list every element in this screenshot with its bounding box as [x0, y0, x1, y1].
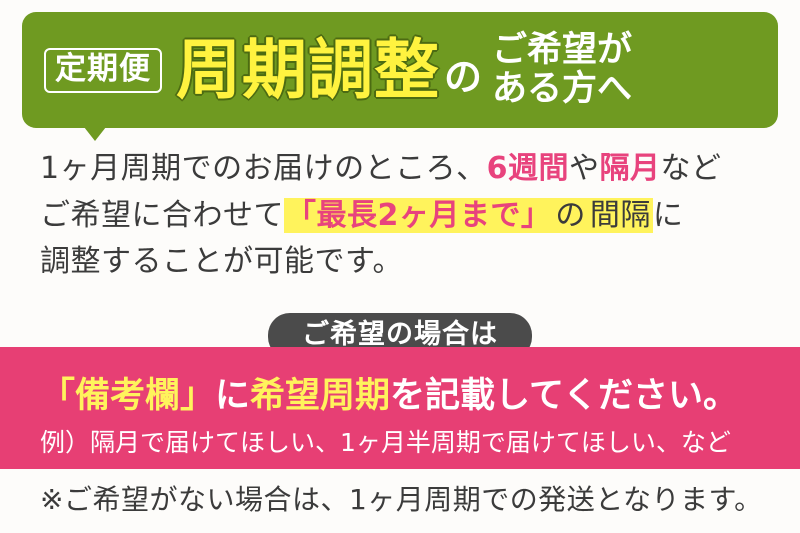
footer-note: ※ご希望がない場合は、1ヶ月周期での発送となります。	[40, 478, 763, 518]
banner-headline: 周期調整	[176, 38, 440, 103]
body-line-1-emphasis-6weeks: 6週間	[487, 151, 569, 186]
banner-subheadline: ご希望が ある方へ	[492, 31, 632, 109]
banner-subheadline-line-1: ご希望が	[492, 31, 632, 70]
body-line-1-part-e: など	[660, 151, 721, 186]
pink-band-part-d: を記載してください。	[390, 376, 738, 416]
banner-headline-particle: の	[444, 58, 482, 128]
banner-subheadline-line-2: ある方へ	[492, 70, 632, 109]
body-line-1-emphasis-bimonthly: 隔月	[599, 151, 660, 186]
pink-band-part-b: に	[215, 376, 250, 416]
body-paragraph: 1ヶ月周期でのお届けのところ、6週間や隔月など ご希望に合わせて「最長2ヶ月まで…	[40, 146, 770, 286]
pink-band: 「備考欄」に希望周期を記載してください。 例）隔月で届けてほしい、1ヶ月半周期で…	[0, 347, 800, 469]
banner: 定期便 周期調整 の ご希望が ある方へ	[22, 12, 778, 128]
body-line-2-part-e: に	[653, 198, 684, 233]
body-line-1: 1ヶ月周期でのお届けのところ、6週間や隔月など	[40, 146, 770, 193]
subscription-tag: 定期便	[44, 48, 162, 93]
pink-band-desired-cycle: 希望周期	[250, 376, 390, 416]
banner-pointer-icon	[84, 127, 106, 141]
body-line-1-part-c: や	[569, 151, 600, 186]
banner-inner: 定期便 周期調整 の ご希望が ある方へ	[22, 12, 778, 128]
pink-band-headline: 「備考欄」に希望周期を記載してください。	[40, 367, 738, 418]
body-line-1-part-a: 1ヶ月周期でのお届けのところ、	[40, 151, 487, 186]
body-line-2-highlight-interval: 間隔	[588, 198, 653, 233]
body-line-3: 調整することが可能です。	[40, 239, 770, 286]
body-line-2: ご希望に合わせて「最長2ヶ月まで」の間隔に	[40, 193, 770, 240]
body-line-2-part-c: の	[553, 198, 588, 233]
pink-band-remarks-field: 「備考欄」	[40, 376, 215, 416]
promo-page: 定期便 周期調整 の ご希望が ある方へ 1ヶ月周期でのお届けのところ、6週間や…	[0, 0, 800, 533]
pink-band-example: 例）隔月で届けてほしい、1ヶ月半周期で届けてほしい、など	[40, 423, 731, 459]
body-line-2-part-a: ご希望に合わせて	[40, 198, 284, 233]
body-line-2-highlight-max2months: 「最長2ヶ月まで」	[284, 198, 553, 233]
